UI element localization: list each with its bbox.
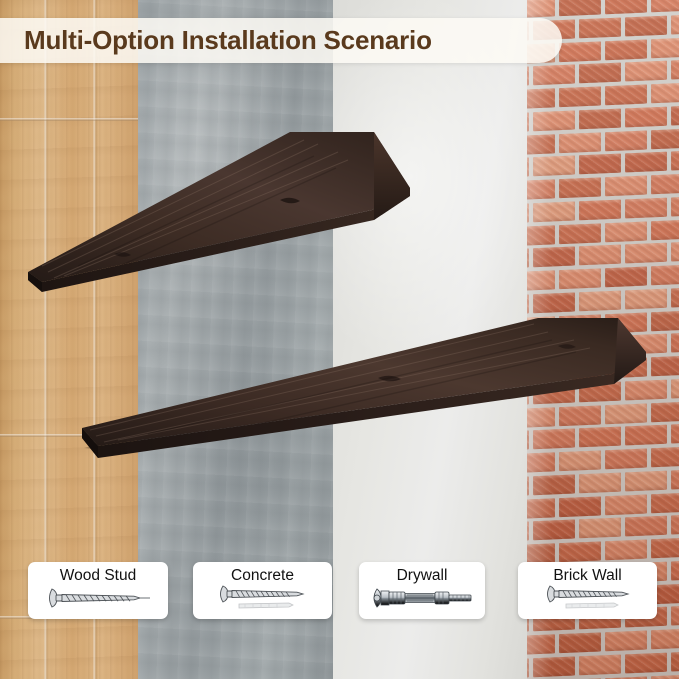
- option-card-drywall[interactable]: Drywall: [359, 562, 485, 619]
- wood-screw-icon: [518, 586, 657, 616]
- option-card-concrete[interactable]: Concrete: [193, 562, 332, 619]
- lower-shelf: [78, 312, 646, 460]
- option-card-brick-wall[interactable]: Brick Wall: [518, 562, 657, 619]
- title-banner: Multi-Option Installation Scenario: [0, 18, 562, 63]
- wall-plug-icon: [239, 603, 293, 608]
- page-title: Multi-Option Installation Scenario: [24, 25, 432, 56]
- option-label: Drywall: [397, 566, 448, 585]
- option-label: Brick Wall: [553, 566, 621, 585]
- wood-screw-icon: [28, 586, 168, 616]
- option-card-wood-stud[interactable]: Wood Stud: [28, 562, 168, 619]
- wall-plug-icon: [566, 603, 618, 608]
- product-image: Multi-Option Installation Scenario: [0, 0, 679, 679]
- option-label: Concrete: [231, 566, 294, 585]
- molly-bolt-anchor-icon: [359, 586, 485, 616]
- wood-screw-icon: [193, 586, 332, 616]
- upper-shelf: [18, 126, 410, 286]
- option-label: Wood Stud: [60, 566, 136, 585]
